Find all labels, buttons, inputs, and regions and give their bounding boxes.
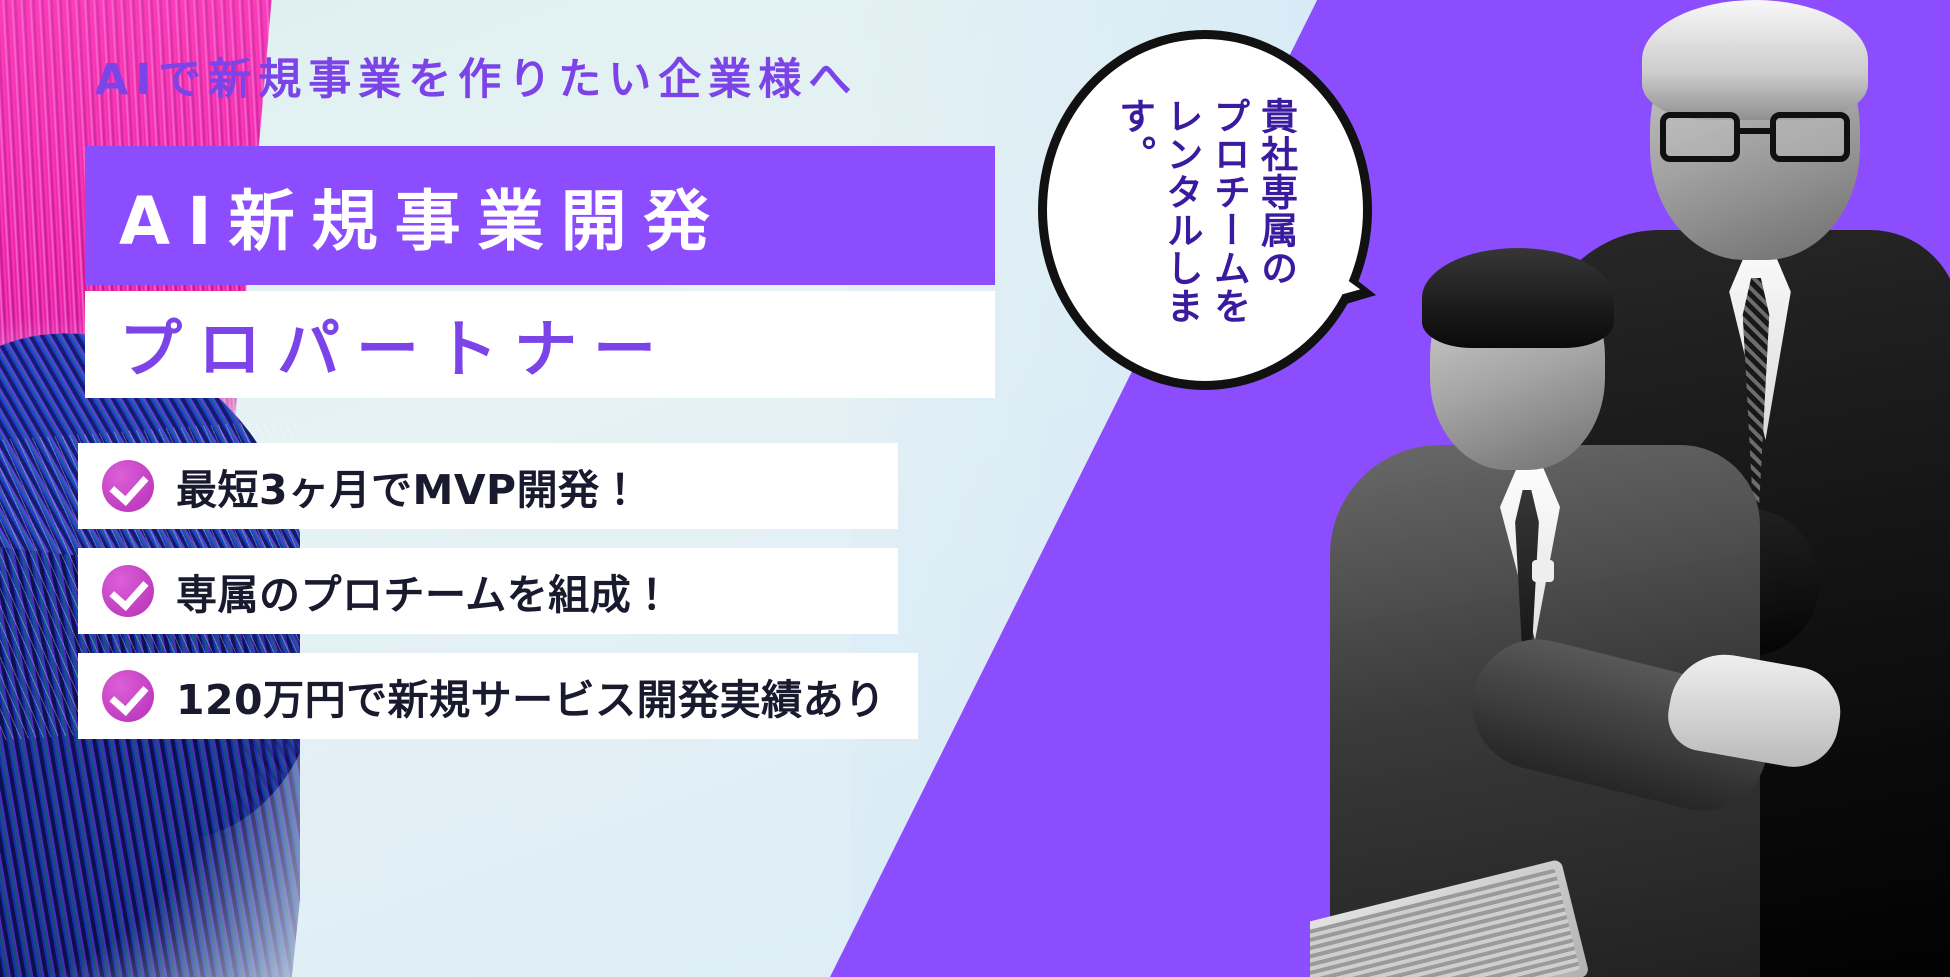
title-band-secondary: プロパートナー	[85, 291, 995, 398]
title-band-primary: AI新規事業開発	[85, 146, 995, 285]
tagline: AIで新規事業を作りたい企業様へ	[95, 45, 858, 107]
young-lapel-badge	[1532, 560, 1554, 582]
glasses-left-lens	[1660, 112, 1740, 162]
speech-bubble-column-2: プロチームを	[1209, 97, 1248, 325]
feature-item: 専属のプロチームを組成！	[78, 548, 898, 634]
page-title-line2: プロパートナー	[85, 299, 672, 390]
people-photo-group	[1310, 0, 1950, 977]
glasses-icon	[1660, 112, 1850, 166]
check-circle-icon	[102, 670, 154, 722]
young-hair	[1422, 248, 1614, 348]
feature-list: 最短3ヶ月でMVP開発！ 専属のプロチームを組成！ 120万円で新規サービス開発…	[78, 443, 898, 758]
check-circle-icon	[102, 460, 154, 512]
page-title-line1: AI新規事業開発	[85, 168, 727, 264]
hero-banner: 貴社専属の プロチームを レンタルしま す。 AIで新規事業を作りたい企業様へ …	[0, 0, 1950, 977]
check-circle-icon	[102, 565, 154, 617]
feature-item: 最短3ヶ月でMVP開発！	[78, 443, 898, 529]
senior-hair	[1642, 0, 1868, 120]
speech-bubble-column-3: レンタルしま	[1162, 97, 1201, 325]
speech-bubble-text: 貴社専属の プロチームを レンタルしま す。	[1047, 39, 1363, 381]
speech-bubble-column-4: す。	[1115, 97, 1154, 173]
speech-bubble: 貴社専属の プロチームを レンタルしま す。	[1038, 30, 1372, 390]
feature-label: 専属のプロチームを組成！	[176, 561, 673, 621]
feature-label: 最短3ヶ月でMVP開発！	[176, 456, 641, 516]
feature-item: 120万円で新規サービス開発実績あり	[78, 653, 918, 739]
glasses-right-lens	[1770, 112, 1850, 162]
feature-label: 120万円で新規サービス開発実績あり	[176, 666, 886, 726]
glasses-bridge	[1740, 128, 1770, 134]
speech-bubble-column-1: 貴社専属の	[1256, 97, 1295, 287]
